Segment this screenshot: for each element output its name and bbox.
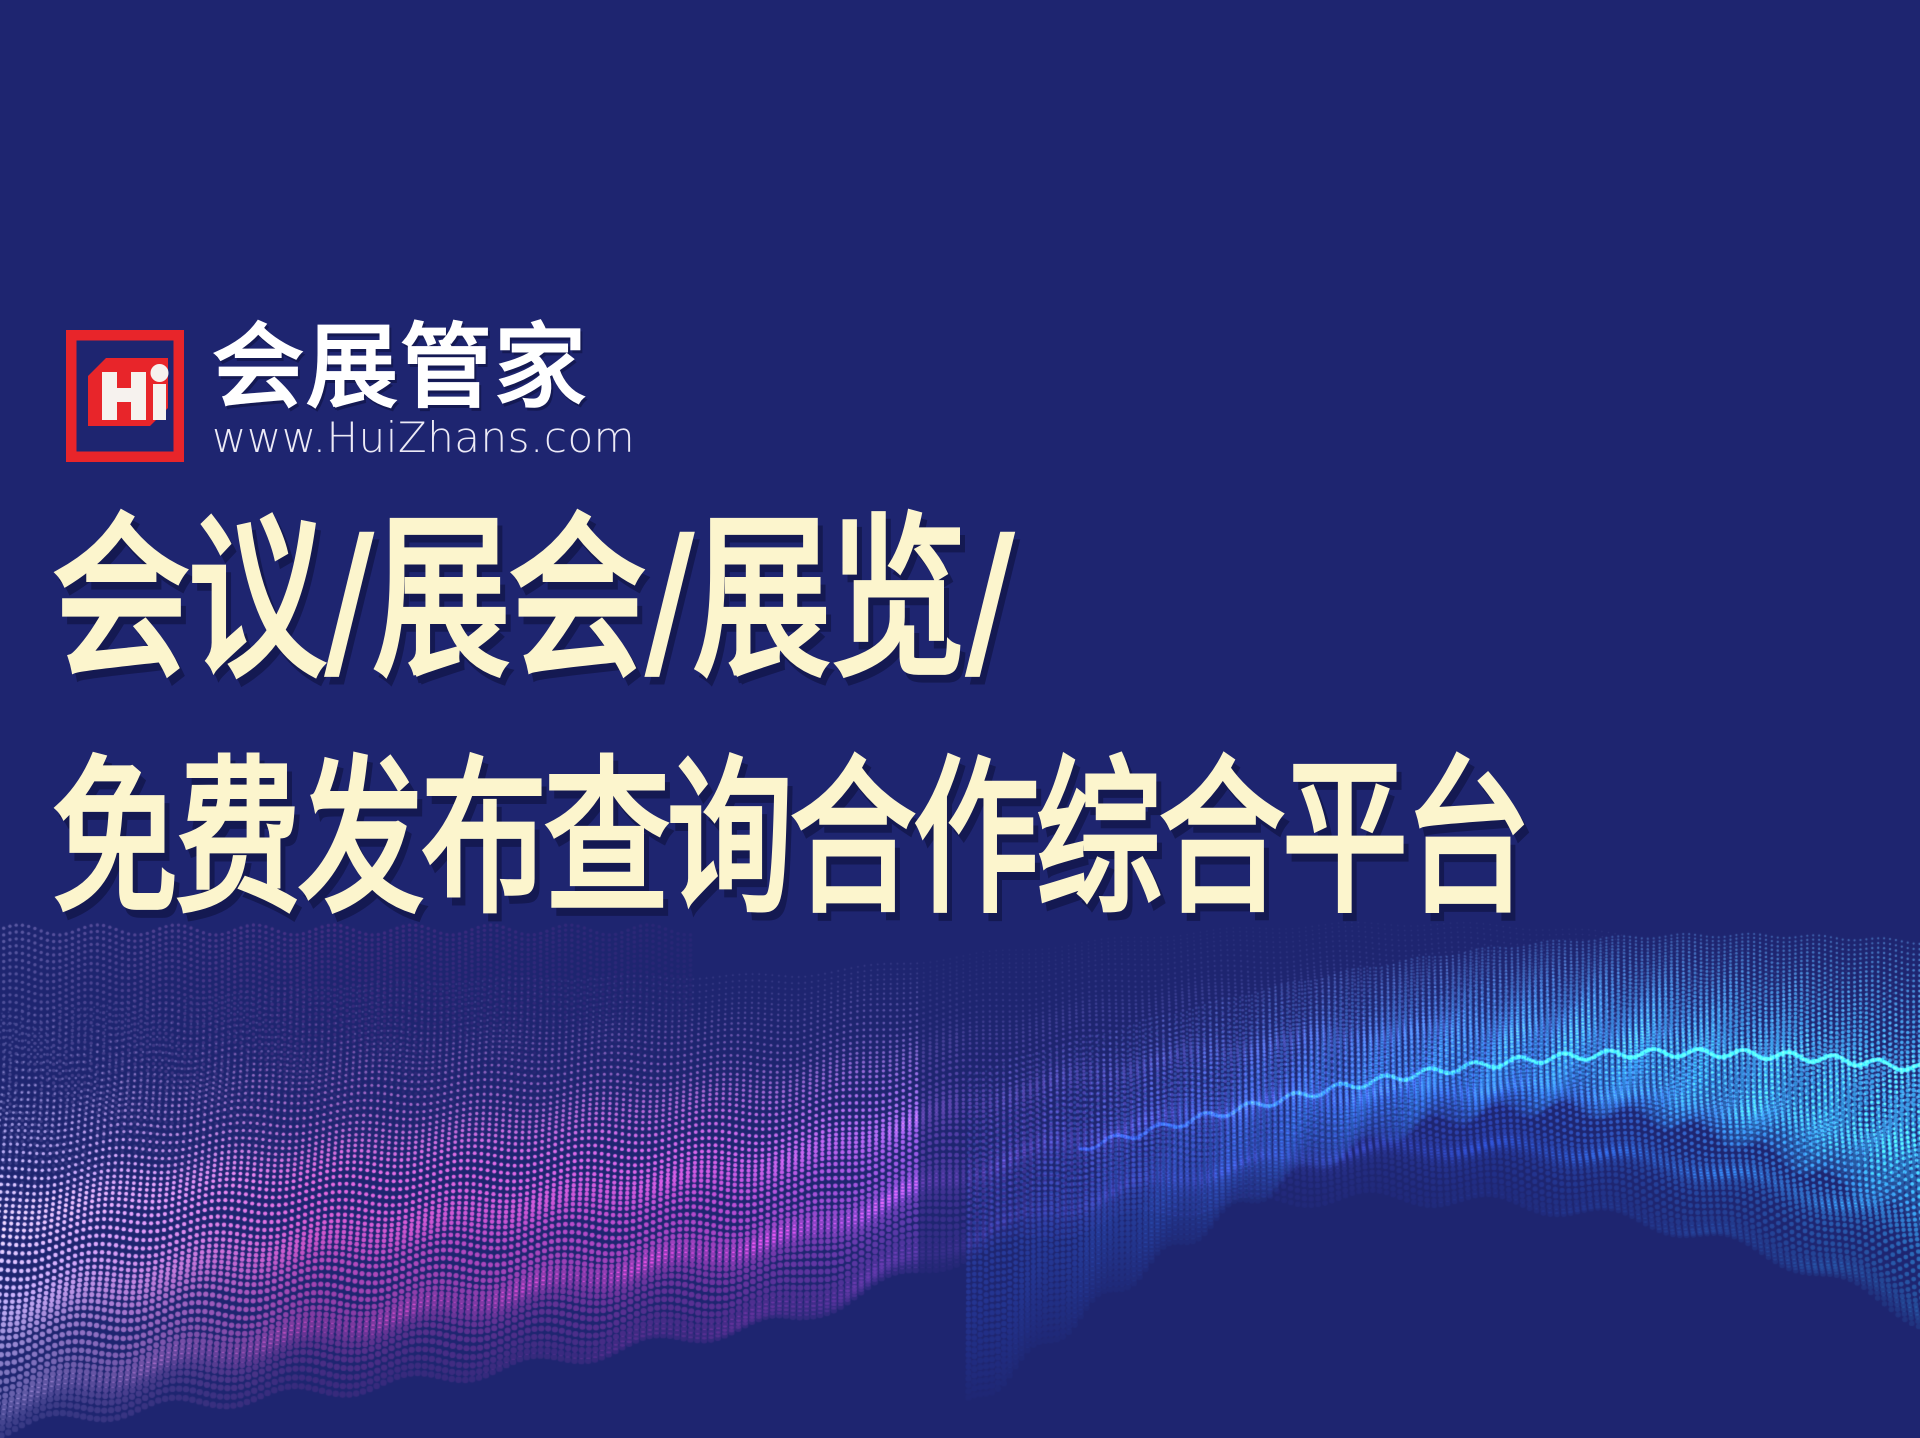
- huizhans-logo-icon: [58, 322, 192, 462]
- brand-lockup[interactable]: 会展管家 www.HuiZhans.com: [58, 322, 635, 463]
- poster-content: 会展管家 www.HuiZhans.com 会议/展会/展览/ 免费发布查询合作…: [0, 0, 1920, 1438]
- headline-line-2: 免费发布查询合作综合平台: [52, 755, 1872, 924]
- brand-url[interactable]: www.HuiZhans.com: [212, 414, 635, 462]
- brand-text-block: 会展管家 www.HuiZhans.com: [212, 322, 635, 463]
- headline-block: 会议/展会/展览/ 免费发布查询合作综合平台: [52, 512, 1872, 881]
- headline-line-1: 会议/展会/展览/: [52, 512, 1872, 689]
- brand-name: 会展管家: [212, 324, 635, 412]
- poster-canvas: 会展管家 www.HuiZhans.com 会议/展会/展览/ 免费发布查询合作…: [0, 0, 1920, 1438]
